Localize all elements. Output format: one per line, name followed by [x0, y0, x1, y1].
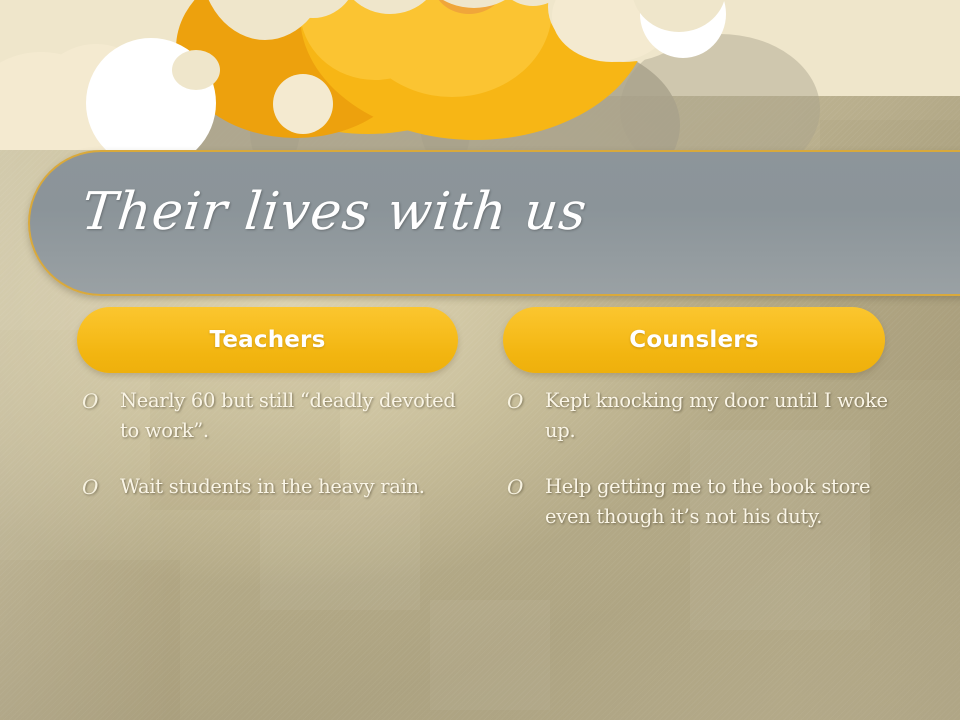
column-header-label: Teachers — [210, 327, 326, 353]
column-header-teachers[interactable]: Teachers — [77, 307, 458, 373]
presentation-slide: Their lives with us Teachers Counslers O… — [0, 0, 960, 720]
sun-dot — [273, 74, 333, 134]
list-item-text: Nearly 60 but still “deadly devoted to w… — [120, 386, 480, 446]
list-item-text: Help getting me to the book store even t… — [545, 472, 905, 532]
list-item-text: Wait students in the heavy rain. — [120, 472, 480, 502]
bullet-ring-icon: O — [80, 472, 120, 502]
list-item: O Help getting me to the book store even… — [505, 472, 905, 532]
bullet-ring-icon: O — [505, 386, 545, 416]
list-item-text: Kept knocking my door until I woke up. — [545, 386, 905, 446]
column-header-label: Counslers — [629, 327, 758, 353]
bullet-ring-icon: O — [80, 386, 120, 416]
bullet-ring-icon: O — [505, 472, 545, 502]
list-item: O Kept knocking my door until I woke up. — [505, 386, 905, 446]
cloud-left-5 — [172, 50, 220, 90]
column-header-counslers[interactable]: Counslers — [503, 307, 885, 373]
bullet-column-teachers: O Nearly 60 but still “deadly devoted to… — [80, 386, 480, 528]
list-item: O Nearly 60 but still “deadly devoted to… — [80, 386, 480, 446]
clouds-and-sun-decoration — [0, 0, 960, 150]
bullet-column-counslers: O Kept knocking my door until I woke up.… — [505, 386, 905, 558]
list-item: O Wait students in the heavy rain. — [80, 472, 480, 502]
slide-title: Their lives with us — [79, 182, 905, 242]
